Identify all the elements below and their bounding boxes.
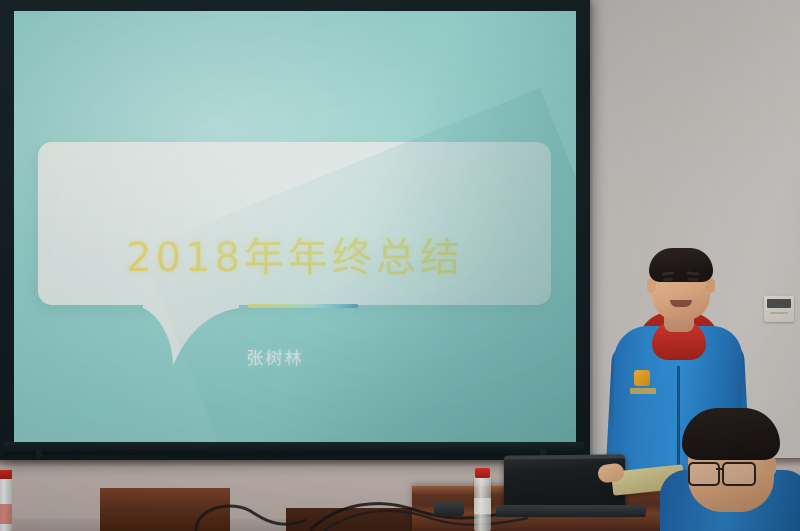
desk-left-segment: [100, 488, 230, 531]
presenter-mouth: [670, 300, 692, 307]
bottle-label: [474, 498, 491, 514]
water-bottle: [474, 476, 491, 531]
projection-screen-frame: 2018年年终总结 张树林: [0, 0, 590, 460]
wall-control-panel-icon[interactable]: [764, 296, 794, 322]
attendee-hair: [682, 408, 780, 460]
presenter-hair: [649, 248, 713, 282]
panel-button-strip: [770, 312, 788, 314]
jacket-logo-icon: [634, 370, 650, 386]
presenter-eye-right: [688, 278, 698, 282]
slide-title: 2018年年终总结: [14, 225, 576, 283]
jacket-logo-text: [630, 388, 656, 394]
bottle-label-left: [0, 504, 12, 524]
laptop-lid-edge: [504, 454, 625, 459]
panel-display: [767, 299, 791, 308]
bottle-cap-left: [0, 470, 12, 479]
projected-slide: 2018年年终总结 张树林: [14, 11, 576, 443]
attendee-glasses-bridge: [716, 468, 724, 470]
presentation-photo-scene: 2018年年终总结 张树林: [0, 0, 800, 531]
attendee-glasses-right-lens: [722, 462, 756, 486]
laptop[interactable]: [504, 454, 625, 511]
laptop-base[interactable]: [495, 505, 646, 517]
screen-clip-left: [36, 449, 42, 458]
screen-bottom-bar: [4, 442, 584, 455]
desk-device: [434, 502, 464, 516]
seated-attendee: [668, 408, 800, 531]
water-bottle-left: [0, 470, 12, 531]
bottle-cap: [475, 468, 490, 478]
attendee-glasses-left-lens: [688, 462, 720, 486]
presenter-name: 张树林: [14, 344, 576, 369]
title-accent-rule: [248, 304, 358, 308]
